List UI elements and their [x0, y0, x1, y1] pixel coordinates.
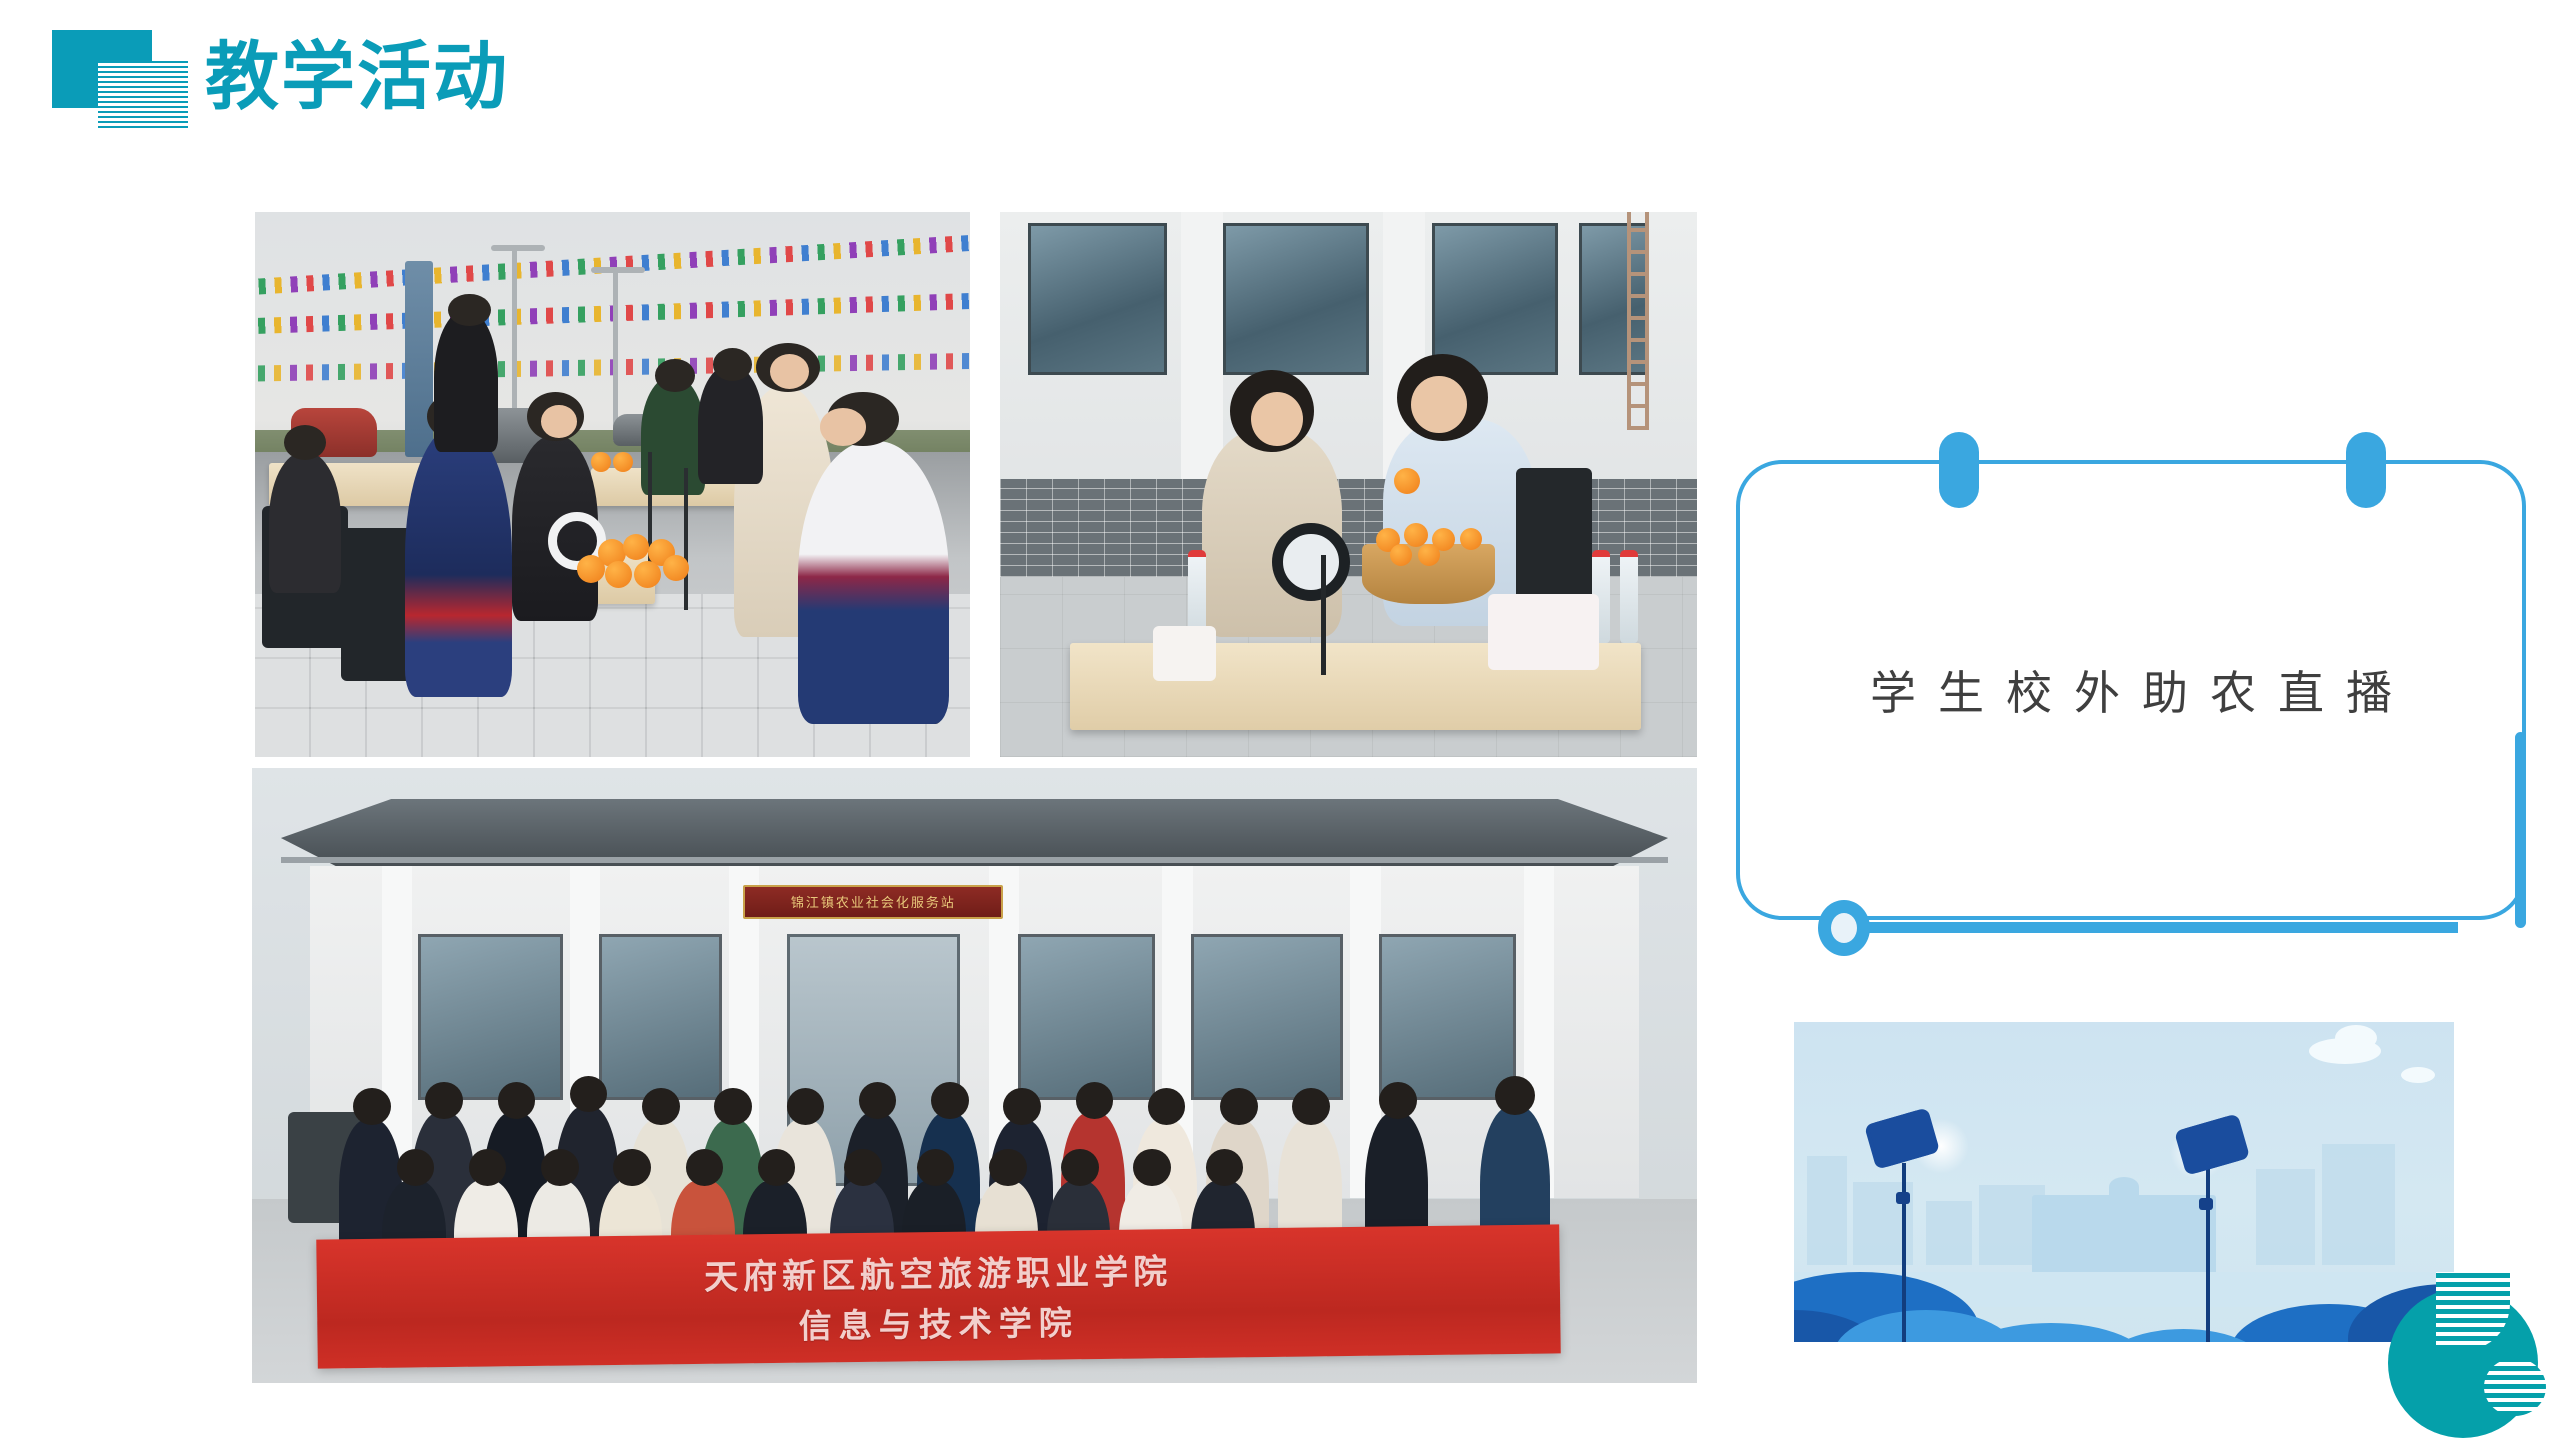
- callout-tail-horizontal: [1848, 922, 2458, 933]
- illustration-livestream-city: [1794, 1022, 2454, 1342]
- lamp-knob: [2199, 1198, 2213, 1210]
- photo1-bystander-head: [655, 359, 694, 392]
- photo2-ring-light: [1272, 523, 1350, 601]
- photo2-chair: [1516, 468, 1593, 610]
- photo2-window: [1432, 223, 1557, 376]
- photo1-signpost: [405, 261, 433, 457]
- photo2-wrapped-flowers: [1153, 626, 1216, 681]
- photo3-window: [1191, 934, 1343, 1100]
- callout-tail: [1736, 878, 2526, 1018]
- lamp-stand: [1902, 1163, 1906, 1342]
- corner-decoration: [2388, 1272, 2560, 1440]
- photo2-window: [1028, 223, 1167, 376]
- landmark-building: [2032, 1195, 2217, 1278]
- building-silhouette: [2322, 1144, 2395, 1266]
- photo3-roof-edge: [281, 857, 1668, 863]
- photo1-bystander-head: [713, 348, 752, 381]
- slide-canvas: 教学活动: [0, 0, 2560, 1440]
- photo3-person-head: [541, 1149, 579, 1186]
- photo2-window: [1223, 223, 1369, 376]
- photo3-person-head: [1220, 1088, 1258, 1125]
- building-silhouette: [1807, 1156, 1847, 1265]
- photo3-red-banner: 天府新区航空旅游职业学院 信息与技术学院: [316, 1224, 1560, 1368]
- photo3-person-head: [1133, 1149, 1171, 1186]
- photo1-tripod: [684, 468, 688, 610]
- photo3-person-head: [425, 1082, 463, 1119]
- photo1-orange: [613, 452, 633, 472]
- building-silhouette: [1926, 1201, 1972, 1265]
- photo1-streetlamp: [491, 245, 545, 251]
- deco-striped-circle: [2484, 1358, 2546, 1416]
- photo2-wrapped-flowers: [1488, 594, 1600, 670]
- photo3-banner-line2: 信息与技术学院: [798, 1296, 1079, 1347]
- logo-lined-square: [98, 61, 188, 130]
- photo1-bystander: [434, 310, 498, 452]
- photo1-student: [798, 441, 948, 724]
- photo3-person-head: [714, 1088, 752, 1125]
- photo-group-banner: 锦江镇农业社会化服务站: [252, 768, 1697, 1383]
- slide-header: 教学活动: [0, 0, 900, 160]
- photo3-person-head: [989, 1149, 1027, 1186]
- photo3-person-head: [859, 1082, 897, 1119]
- photo3-window: [1379, 934, 1516, 1100]
- photo3-person-head: [613, 1149, 651, 1186]
- photo2-held-orange: [1394, 468, 1420, 494]
- photo3-person-head: [1379, 1082, 1417, 1119]
- photo3-person-head: [1003, 1088, 1041, 1125]
- studio-lamp-icon: [2178, 1114, 2250, 1175]
- callout-box: 学生校外助农直播: [1736, 460, 2526, 920]
- photo1-bystander: [269, 452, 341, 594]
- document-stack-icon: [52, 30, 188, 130]
- photo2-ladder: [1627, 212, 1649, 430]
- photo1-bystander: [698, 365, 762, 485]
- photo2-tripod: [1321, 555, 1326, 675]
- photo1-streetlamp: [591, 267, 645, 273]
- photo3-person-head: [1206, 1149, 1244, 1186]
- photo2-orange: [1460, 528, 1482, 550]
- photo3-person-head: [1292, 1088, 1330, 1125]
- callout-tail-vertical: [2515, 732, 2526, 928]
- cloud-icon: [2401, 1067, 2435, 1083]
- callout-pill-right-icon: [2346, 432, 2386, 508]
- photo1-bystander-head: [284, 425, 327, 460]
- lamp-knob: [1896, 1192, 1910, 1204]
- photo3-person-head: [1076, 1082, 1114, 1119]
- photo3-banner-line1: 天府新区航空旅游职业学院: [704, 1244, 1173, 1299]
- photo1-orange: [605, 561, 632, 588]
- photo3-person-head: [1061, 1149, 1099, 1186]
- photo3-person-head: [844, 1149, 882, 1186]
- photo3-person-head: [353, 1088, 391, 1125]
- page-title: 教学活动: [205, 22, 509, 132]
- photo3-person-head: [642, 1088, 680, 1125]
- photo1-orange: [634, 561, 661, 588]
- photo3-person-head: [931, 1082, 969, 1119]
- building-silhouette: [2256, 1169, 2315, 1265]
- photo3-person-head: [397, 1149, 435, 1186]
- photo3-person-head: [787, 1088, 825, 1125]
- photo1-lamppost: [613, 267, 618, 441]
- photo-two-students-livestream: [1000, 212, 1697, 757]
- callout-label: 学生校外助农直播: [1736, 657, 2526, 723]
- photo1-orange: [623, 534, 649, 560]
- photo3-window: [599, 934, 722, 1100]
- photo1-bystander-head: [448, 294, 491, 327]
- photo3-person-head: [917, 1149, 955, 1186]
- photo1-orange: [663, 555, 689, 581]
- photo3-window: [418, 934, 563, 1100]
- photo3-person-head: [498, 1082, 536, 1119]
- photo1-orange: [591, 452, 611, 472]
- photo1-orange: [577, 555, 605, 583]
- photo2-orange: [1404, 523, 1428, 547]
- callout-pill-left-icon: [1939, 432, 1979, 508]
- photo1-student-face: [770, 354, 809, 389]
- photo3-person-head: [686, 1149, 724, 1186]
- callout-tail-ring-icon: [1818, 900, 1870, 956]
- photo3-person-head: [1148, 1088, 1186, 1125]
- photo2-student-left-face: [1251, 392, 1303, 447]
- photo-outdoor-livestream: [255, 212, 970, 757]
- lamp-stand: [2206, 1169, 2210, 1342]
- photo3-building-sign-text: 锦江镇农业社会化服务站: [791, 892, 956, 911]
- photo2-pillar: [1181, 212, 1223, 495]
- photo2-student-right-face: [1411, 376, 1467, 433]
- photo1-student: [405, 425, 512, 698]
- photo1-student-face: [541, 405, 577, 438]
- photo3-building-sign: 锦江镇农业社会化服务站: [743, 885, 1003, 919]
- photo2-water-bottle: [1620, 550, 1638, 643]
- photo3-window: [1018, 934, 1155, 1100]
